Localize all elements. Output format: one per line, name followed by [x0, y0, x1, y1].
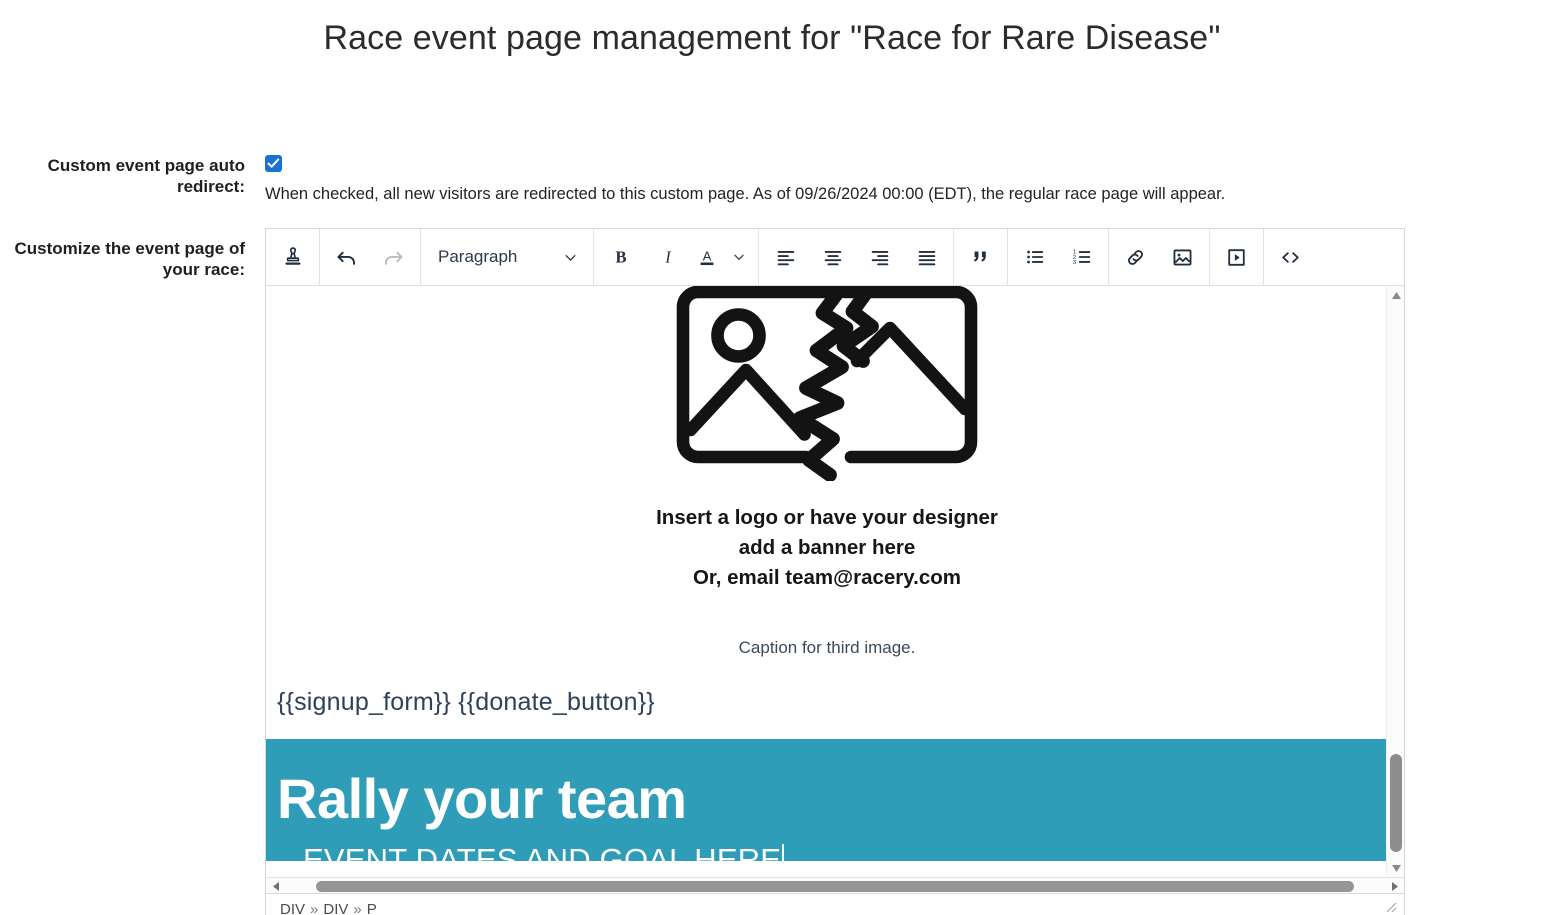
element-path-breadcrumb: DIV » DIV » P: [280, 901, 377, 915]
align-right-button[interactable]: [856, 234, 903, 281]
image-button[interactable]: [1159, 234, 1206, 281]
editor-toolbar: Paragraph B I: [266, 229, 1404, 286]
svg-text:3: 3: [1072, 260, 1075, 266]
caret-left-icon: [272, 881, 280, 892]
video-button[interactable]: [1213, 234, 1260, 281]
align-center-button[interactable]: [809, 234, 856, 281]
toolbar-group-history: [320, 229, 421, 285]
broken-image-icon: [671, 286, 983, 481]
form-row-auto-redirect: Custom event page auto redirect: When ch…: [0, 153, 1544, 205]
banner-subheading[interactable]: EVENT DATES AND GOAL HERE: [277, 844, 784, 862]
link-icon: [1124, 246, 1147, 269]
svg-text:B: B: [615, 248, 626, 267]
format-select-value: Paragraph: [438, 247, 517, 267]
editor-horizontal-scrollbar[interactable]: [266, 877, 1404, 894]
scroll-left-arrow-button[interactable]: [267, 878, 284, 895]
align-justify-button[interactable]: [903, 234, 950, 281]
label-customize-page: Customize the event page of your race:: [0, 228, 265, 281]
page-title: Race event page management for "Race for…: [0, 0, 1544, 59]
form-row-customize-page: Customize the event page of your race:: [0, 228, 1544, 915]
source-code-button[interactable]: [1267, 234, 1314, 281]
breadcrumb-item-0[interactable]: DIV: [280, 901, 305, 915]
toolbar-group-code: [1264, 229, 1317, 285]
shortcode-tokens[interactable]: {{signup_form}} {{donate_button}}: [266, 688, 1388, 717]
toolbar-group-inline: B I A: [594, 229, 759, 285]
image-caption: Caption for third image.: [266, 638, 1388, 658]
bold-icon: B: [610, 246, 632, 268]
svg-text:A: A: [703, 249, 712, 264]
italic-icon: I: [657, 246, 679, 268]
editor-status-bar: DIV » DIV » P: [266, 894, 1404, 915]
placeholder-line-2: add a banner here: [266, 533, 1388, 563]
italic-button[interactable]: I: [644, 234, 691, 281]
redo-icon: [382, 246, 405, 269]
numbered-list-icon: 123: [1071, 246, 1093, 268]
text-color-button[interactable]: A: [691, 234, 723, 281]
placeholder-line-1: Insert a logo or have your designer: [266, 503, 1388, 533]
rich-text-editor: Paragraph B I: [265, 228, 1405, 915]
horizontal-scroll-thumb[interactable]: [316, 881, 1354, 892]
source-code-icon: [1279, 246, 1302, 269]
placeholder-text: Insert a logo or have your designer add …: [266, 503, 1388, 593]
chevron-down-icon: [732, 250, 746, 264]
image-icon: [1171, 246, 1194, 269]
auto-redirect-help-text: When checked, all new visitors are redir…: [265, 184, 1544, 205]
caret-up-icon: [1391, 291, 1402, 300]
toolbar-group-lists: 123: [1008, 229, 1109, 285]
align-justify-icon: [916, 246, 938, 268]
image-placeholder-block: Insert a logo or have your designer add …: [266, 286, 1388, 593]
scroll-right-arrow-button[interactable]: [1386, 878, 1403, 895]
scroll-up-arrow-button[interactable]: [1387, 286, 1404, 304]
align-center-icon: [822, 246, 844, 268]
stamp-icon-button[interactable]: [269, 234, 316, 281]
toolbar-group-quote: [954, 229, 1008, 285]
caret-down-icon: [1391, 864, 1402, 873]
banner-heading[interactable]: Rally your team: [277, 771, 1388, 827]
editor-content-area[interactable]: Insert a logo or have your designer add …: [266, 286, 1404, 877]
bold-button[interactable]: B: [597, 234, 644, 281]
breadcrumb-separator: »: [310, 901, 318, 915]
auto-redirect-body: When checked, all new visitors are redir…: [265, 153, 1544, 205]
redo-icon-button[interactable]: [370, 234, 417, 281]
toolbar-group-alignment: [759, 229, 954, 285]
link-button[interactable]: [1112, 234, 1159, 281]
label-auto-redirect: Custom event page auto redirect:: [0, 153, 265, 198]
resize-grip-icon: [1385, 901, 1398, 914]
scroll-down-arrow-button[interactable]: [1387, 859, 1404, 877]
stamp-icon: [282, 246, 304, 268]
toolbar-group-templates: [266, 229, 320, 285]
form-wrapper: Custom event page auto redirect: When ch…: [0, 153, 1544, 915]
text-color-options-button[interactable]: [723, 234, 755, 281]
align-left-button[interactable]: [762, 234, 809, 281]
video-icon: [1225, 246, 1248, 269]
breadcrumb-separator: »: [353, 901, 361, 915]
svg-text:I: I: [664, 248, 672, 267]
blockquote-button[interactable]: [957, 234, 1004, 281]
format-select[interactable]: Paragraph: [424, 234, 590, 281]
teal-banner-block[interactable]: Rally your team EVENT DATES AND GOAL HER…: [266, 739, 1388, 862]
text-caret: [782, 844, 784, 862]
editor-resize-handle[interactable]: [1385, 901, 1398, 915]
undo-icon: [335, 246, 358, 269]
toolbar-group-media: [1210, 229, 1264, 285]
align-right-icon: [869, 246, 891, 268]
align-left-icon: [775, 246, 797, 268]
numbered-list-button[interactable]: 123: [1058, 234, 1105, 281]
breadcrumb-item-1[interactable]: DIV: [323, 901, 348, 915]
check-icon: [267, 157, 280, 170]
banner-subheading-text: EVENT DATES AND GOAL HERE: [303, 842, 781, 862]
toolbar-group-blocks: Paragraph: [421, 229, 594, 285]
toolbar-group-insert: [1109, 229, 1210, 285]
editor-vertical-scrollbar[interactable]: [1386, 286, 1404, 877]
undo-icon-button[interactable]: [323, 234, 370, 281]
bullet-list-button[interactable]: [1011, 234, 1058, 281]
blockquote-icon: [970, 246, 992, 268]
bullet-list-icon: [1024, 246, 1046, 268]
vertical-scroll-thumb[interactable]: [1390, 754, 1402, 852]
placeholder-line-3: Or, email team@racery.com: [266, 563, 1388, 593]
auto-redirect-checkbox[interactable]: [265, 155, 282, 172]
text-color-icon: A: [696, 246, 718, 268]
caret-right-icon: [1391, 881, 1399, 892]
breadcrumb-item-2[interactable]: P: [367, 901, 377, 915]
chevron-down-icon: [563, 250, 578, 265]
editor-canvas[interactable]: Insert a logo or have your designer add …: [266, 286, 1388, 861]
